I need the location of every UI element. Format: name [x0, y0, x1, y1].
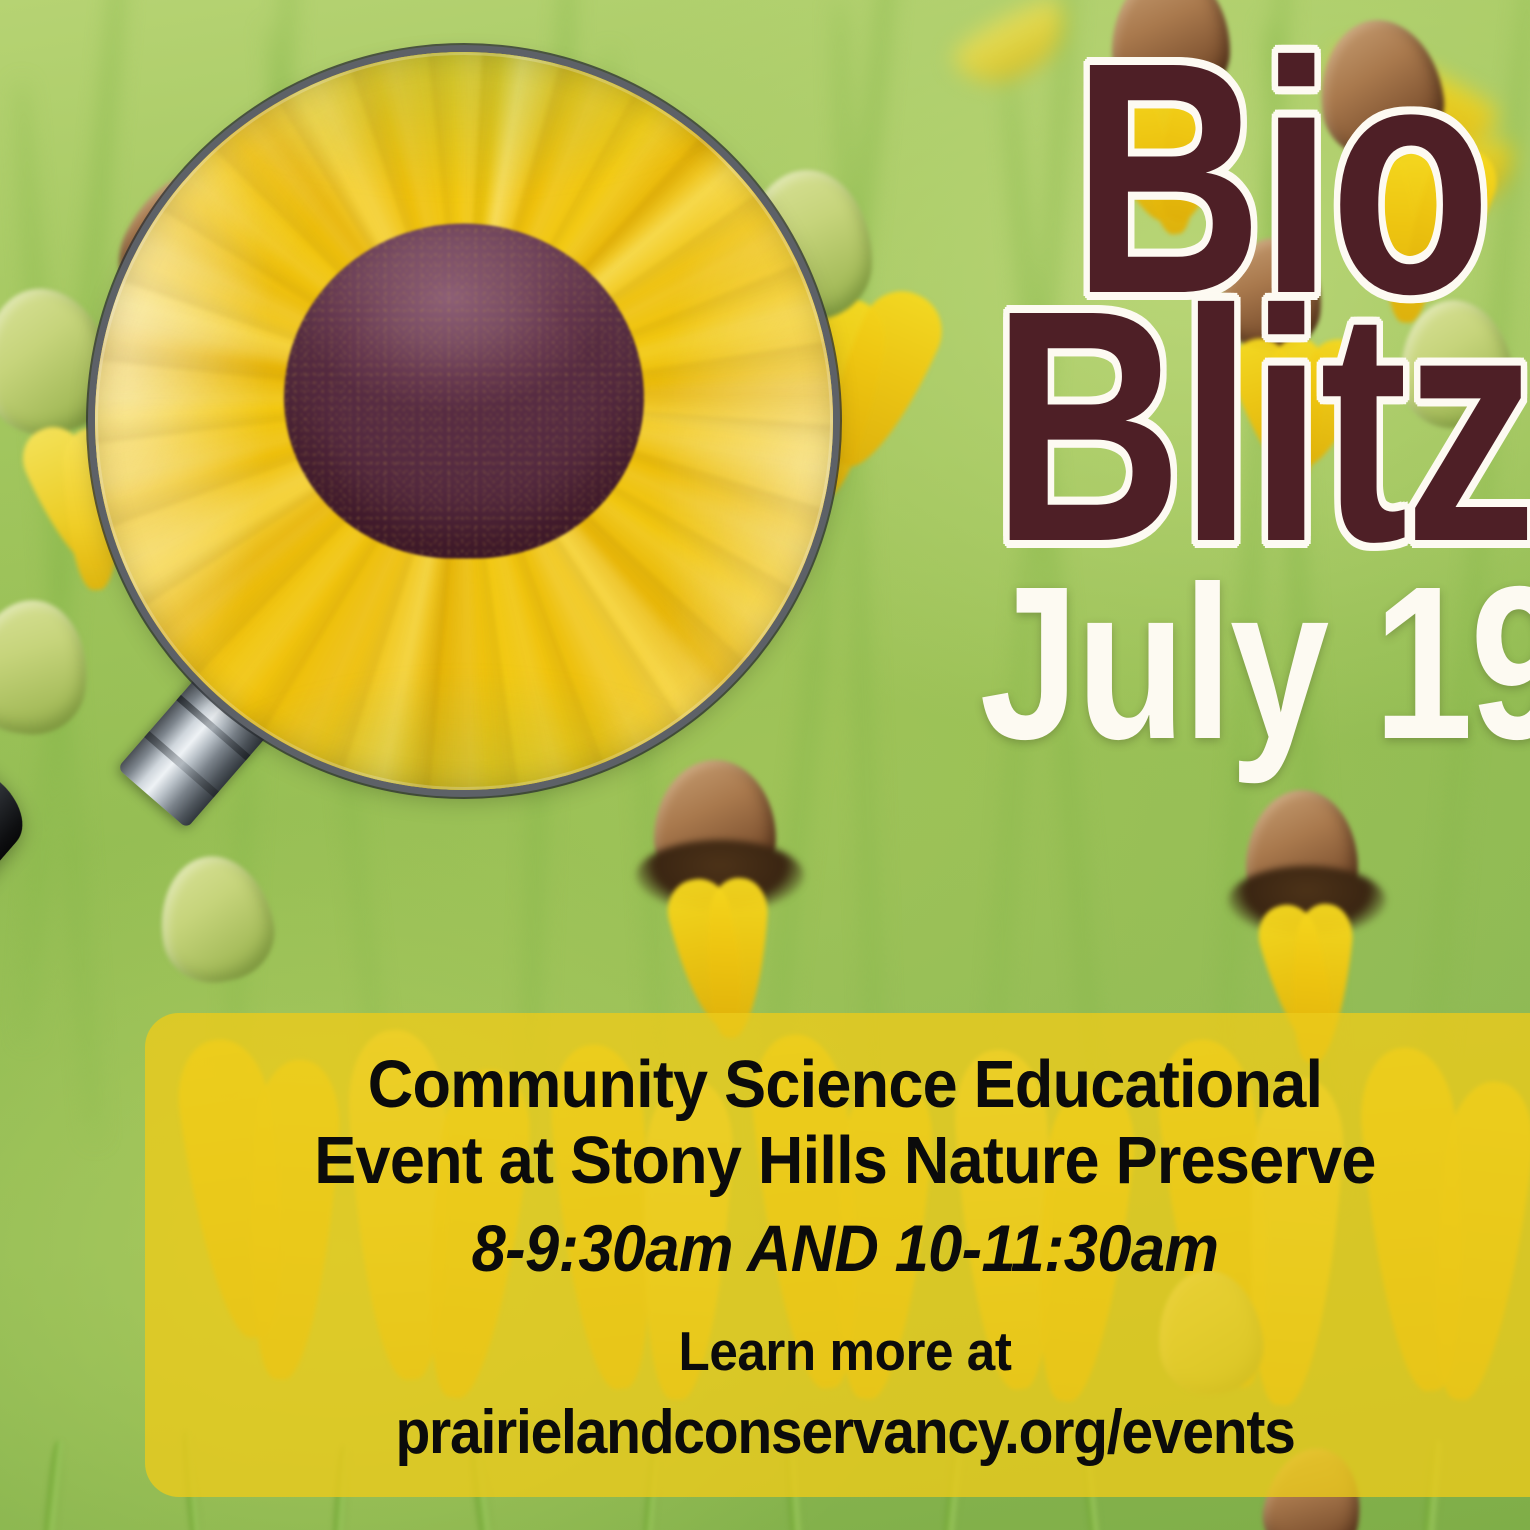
magnifying-glass-icon [0, 0, 900, 1080]
learn-more-label: Learn more at [218, 1318, 1472, 1384]
magnifier-handle-grip [0, 724, 39, 1133]
event-url[interactable]: prairielandconservancy.org/events [225, 1396, 1465, 1469]
info-banner: Community Science Educational Event at S… [145, 1013, 1530, 1497]
lens-flower-cone-center [284, 224, 644, 559]
lens-cone-texture [284, 224, 644, 559]
magnifier-lens [95, 52, 833, 790]
event-date: July 19 [980, 568, 1488, 760]
headline-line-blitz: Blitz [992, 294, 1488, 558]
info-banner-text: Community Science Educational Event at S… [171, 1047, 1519, 1469]
poster-canvas: Bio Blitz July 19 Community Science Educ… [0, 0, 1530, 1530]
event-times: 8-9:30am AND 10-11:30am [218, 1206, 1472, 1292]
headline-block: Bio Blitz July 19 [868, 46, 1488, 760]
event-description-line-2: Event at Stony Hills Nature Preserve [211, 1123, 1478, 1199]
event-description-line-1: Community Science Educational [211, 1047, 1478, 1123]
